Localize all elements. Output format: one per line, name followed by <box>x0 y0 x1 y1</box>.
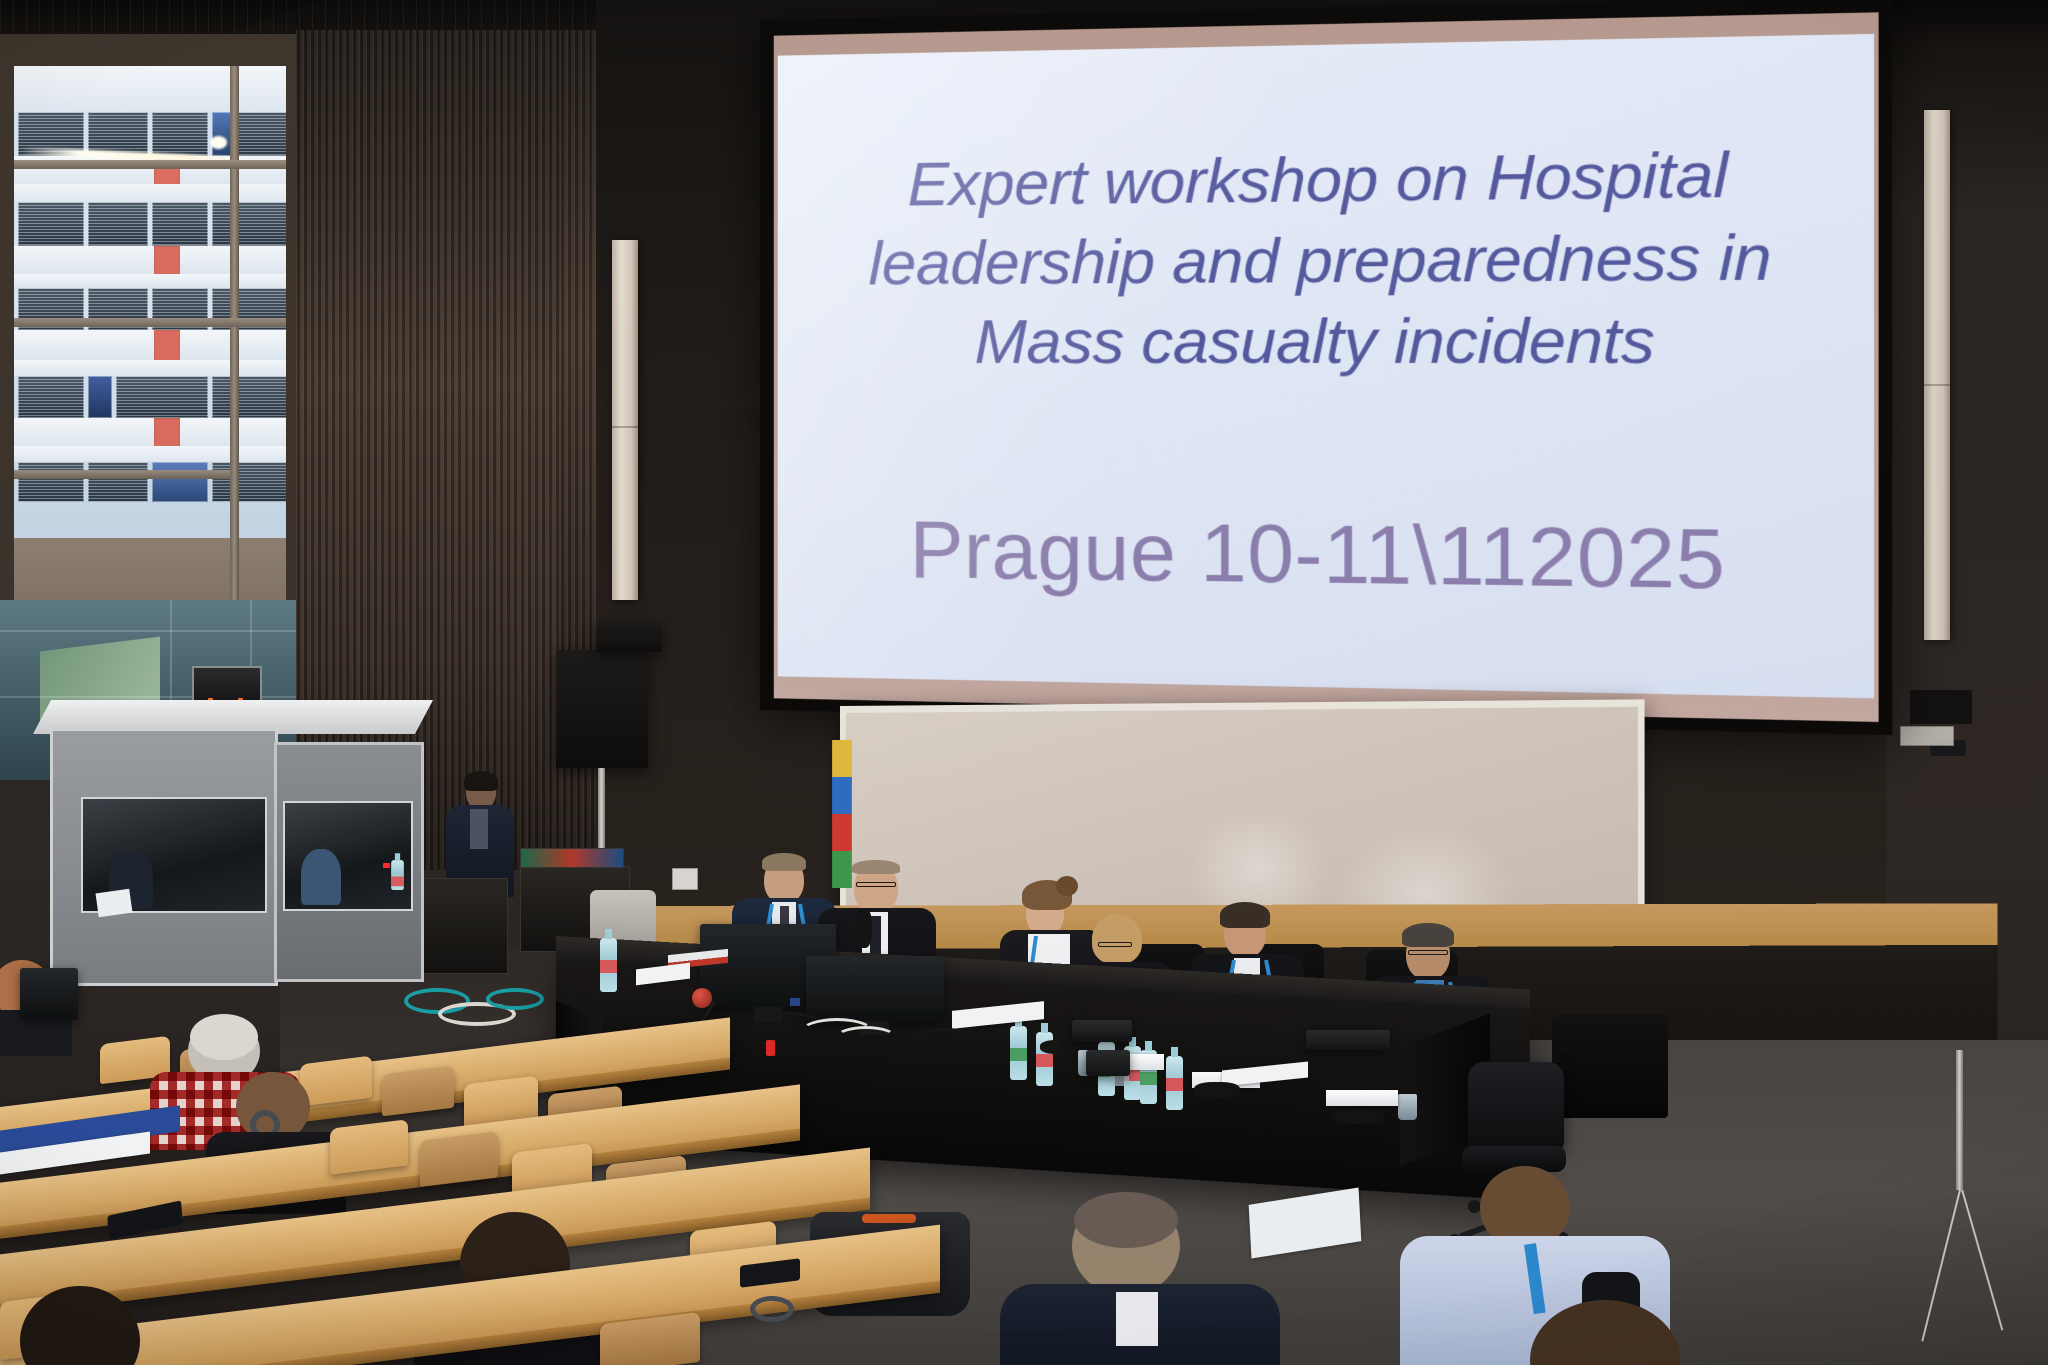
speaker-mount-plate <box>1910 690 1972 724</box>
seat[interactable] <box>330 1119 408 1175</box>
microphone-base[interactable] <box>1194 1082 1240 1098</box>
water-bottle <box>1166 1056 1183 1110</box>
backpack-strap <box>862 1214 916 1223</box>
coiled-cable-dark <box>756 1012 822 1038</box>
name-card <box>1326 1090 1398 1106</box>
headphones-on-desk <box>750 1296 794 1322</box>
led-indicator <box>790 998 800 1006</box>
water-bottle <box>1010 1026 1027 1080</box>
drinking-glass <box>1398 1094 1417 1120</box>
audience-member-suit <box>1000 1196 1280 1365</box>
audience-member-front-right <box>1500 1300 1720 1365</box>
coiled-cable-dark <box>910 1028 980 1052</box>
window-mullion-horizontal <box>14 318 286 327</box>
booth-front-panel <box>50 728 278 986</box>
coiled-cable-white <box>836 1026 896 1048</box>
booth-occupant <box>301 849 341 905</box>
interpreter-booth <box>42 700 424 990</box>
mic-stand-pole <box>1956 1050 1963 1190</box>
water-bottle <box>600 938 617 992</box>
desk-monitor-far-left <box>20 968 78 1020</box>
pa-speaker-black <box>556 650 648 768</box>
ac-adapter <box>1072 1020 1132 1042</box>
projection-screen: Expert workshop on Hospital leadership a… <box>760 0 1892 735</box>
water-bottle <box>391 860 404 890</box>
microphone-base[interactable] <box>1332 1110 1384 1124</box>
slide-title: Expert workshop on Hospital leadership a… <box>868 134 1771 384</box>
seat[interactable] <box>382 1066 454 1117</box>
window-mullion-horizontal <box>14 470 230 479</box>
window-glass <box>14 66 286 630</box>
status-led-red <box>766 1040 775 1056</box>
booth-papers <box>95 889 132 917</box>
window-wall <box>0 34 300 674</box>
column-speaker-right <box>1924 110 1950 640</box>
teal-cable-coil <box>486 988 544 1010</box>
laptop <box>1306 1030 1390 1050</box>
window-mullion-horizontal <box>14 160 286 169</box>
cable-reels <box>520 848 624 868</box>
wall-outlet-plate <box>672 868 698 890</box>
whiteboard-surface <box>846 707 1638 926</box>
eyeglasses <box>856 882 896 887</box>
presentation-slide: Expert workshop on Hospital leadership a… <box>778 34 1874 698</box>
panel-chair[interactable] <box>1552 1014 1668 1118</box>
slide-subtitle: Prague 10-11\112025 <box>910 504 1726 609</box>
screen-border: Expert workshop on Hospital leadership a… <box>774 12 1879 722</box>
window-mullion-vertical <box>230 66 239 630</box>
microphone-base[interactable] <box>1040 1040 1080 1054</box>
seat[interactable] <box>420 1131 498 1187</box>
eyeglasses <box>1098 942 1132 947</box>
wall-outlet-plate <box>1900 726 1954 746</box>
eyeglasses <box>1408 950 1448 955</box>
light-fixture-dot <box>210 136 227 149</box>
wall-speaker-small <box>596 622 662 652</box>
desk-monitor-right <box>806 956 944 1022</box>
conference-hall-photo: Expert workshop on Hospital leadership a… <box>0 0 2048 1365</box>
audience-member-front-left <box>0 1286 180 1365</box>
booth-side-panel <box>274 742 424 982</box>
handheld-microphone[interactable] <box>856 908 872 948</box>
av-box <box>1086 1050 1130 1076</box>
column-speaker-left <box>612 240 638 600</box>
